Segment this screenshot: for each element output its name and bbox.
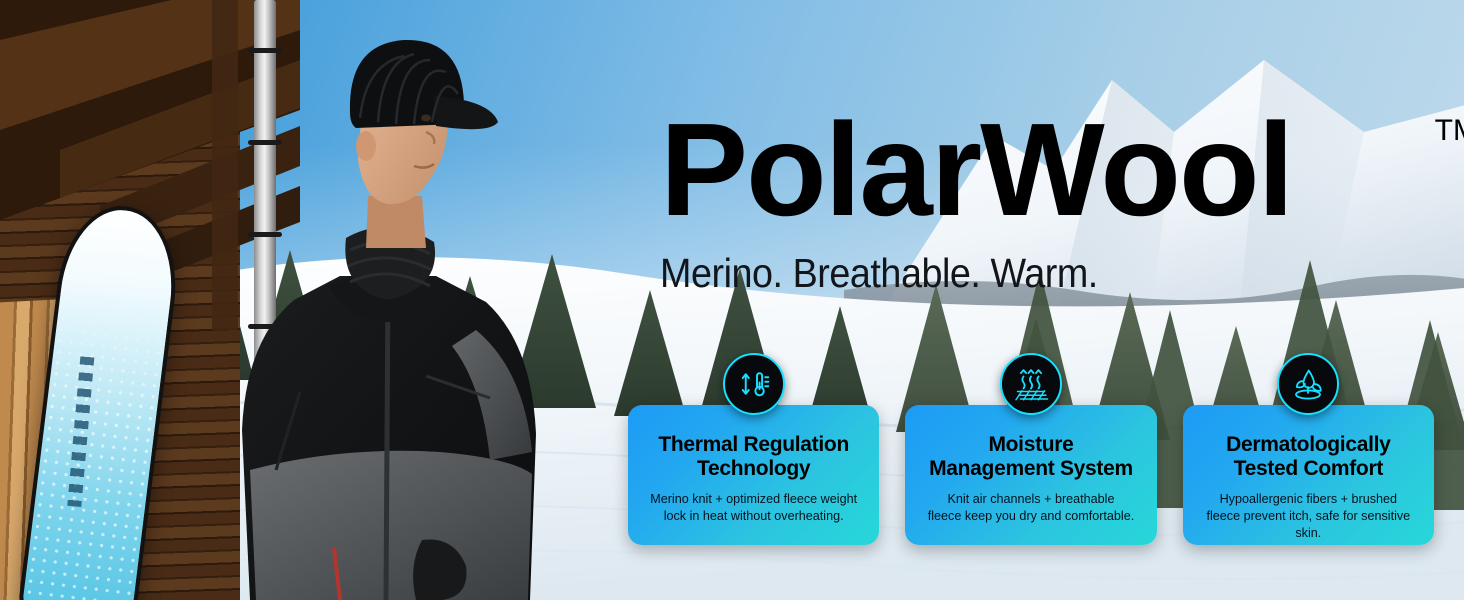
feature-card-row: Thermal Regulation Technology Merino kni…: [628, 405, 1434, 545]
feature-card-body: Merino knit + optimized fleece weight lo…: [638, 491, 869, 525]
brand-tagline: Merino. Breathable. Warm.: [660, 250, 1359, 297]
feature-body-line2: fleece prevent itch, safe for sensitive …: [1206, 509, 1410, 540]
feature-card-title: Dermatologically Tested Comfort: [1193, 433, 1424, 480]
trademark-symbol: TM: [1435, 116, 1464, 146]
feature-title-line2: Tested Comfort: [1234, 457, 1383, 480]
feature-title-line1: Moisture: [988, 433, 1073, 456]
feature-body-line2: lock in heat without overheating.: [664, 509, 844, 523]
brand-name: PolarWoolTM: [660, 104, 1420, 236]
feature-card-title: Moisture Management System: [915, 433, 1146, 480]
feature-body-line2: fleece keep you dry and comfortable.: [928, 509, 1135, 523]
feature-card-thermal-regulation[interactable]: Thermal Regulation Technology Merino kni…: [628, 405, 879, 545]
feature-card-moisture-management[interactable]: Moisture Management System Knit air chan…: [905, 405, 1156, 545]
moisture-wicking-icon: [1013, 366, 1049, 402]
feature-title-line1: Dermatologically: [1226, 433, 1390, 456]
feature-body-line1: Merino knit + optimized fleece weight: [650, 492, 857, 506]
thermometer-arrows-icon-badge: [723, 353, 785, 415]
feature-card-body: Hypoallergenic fibers + brushed fleece p…: [1193, 491, 1424, 542]
brand-headline-block: PolarWoolTM Merino. Breathable. Warm.: [660, 104, 1420, 297]
feature-title-line2: Management System: [929, 457, 1133, 480]
model-in-winter-jacket: [190, 0, 610, 600]
feature-body-line1: Knit air channels + breathable: [948, 492, 1115, 506]
product-hero-banner: PolarWoolTM Merino. Breathable. Warm.: [0, 0, 1464, 600]
feature-title-line2: Technology: [697, 457, 810, 480]
feature-body-line1: Hypoallergenic fibers + brushed: [1220, 492, 1397, 506]
feature-card-body: Knit air channels + breathable fleece ke…: [915, 491, 1146, 525]
thermometer-arrows-icon: [736, 366, 772, 402]
feature-card-dermatologically-tested[interactable]: Dermatologically Tested Comfort Hypoalle…: [1183, 405, 1434, 545]
moisture-wicking-icon-badge: [1000, 353, 1062, 415]
feature-card-title: Thermal Regulation Technology: [638, 433, 869, 480]
droplet-leaves-icon: [1290, 366, 1326, 402]
droplet-leaves-icon-badge: [1277, 353, 1339, 415]
feature-title-line1: Thermal Regulation: [658, 433, 849, 456]
